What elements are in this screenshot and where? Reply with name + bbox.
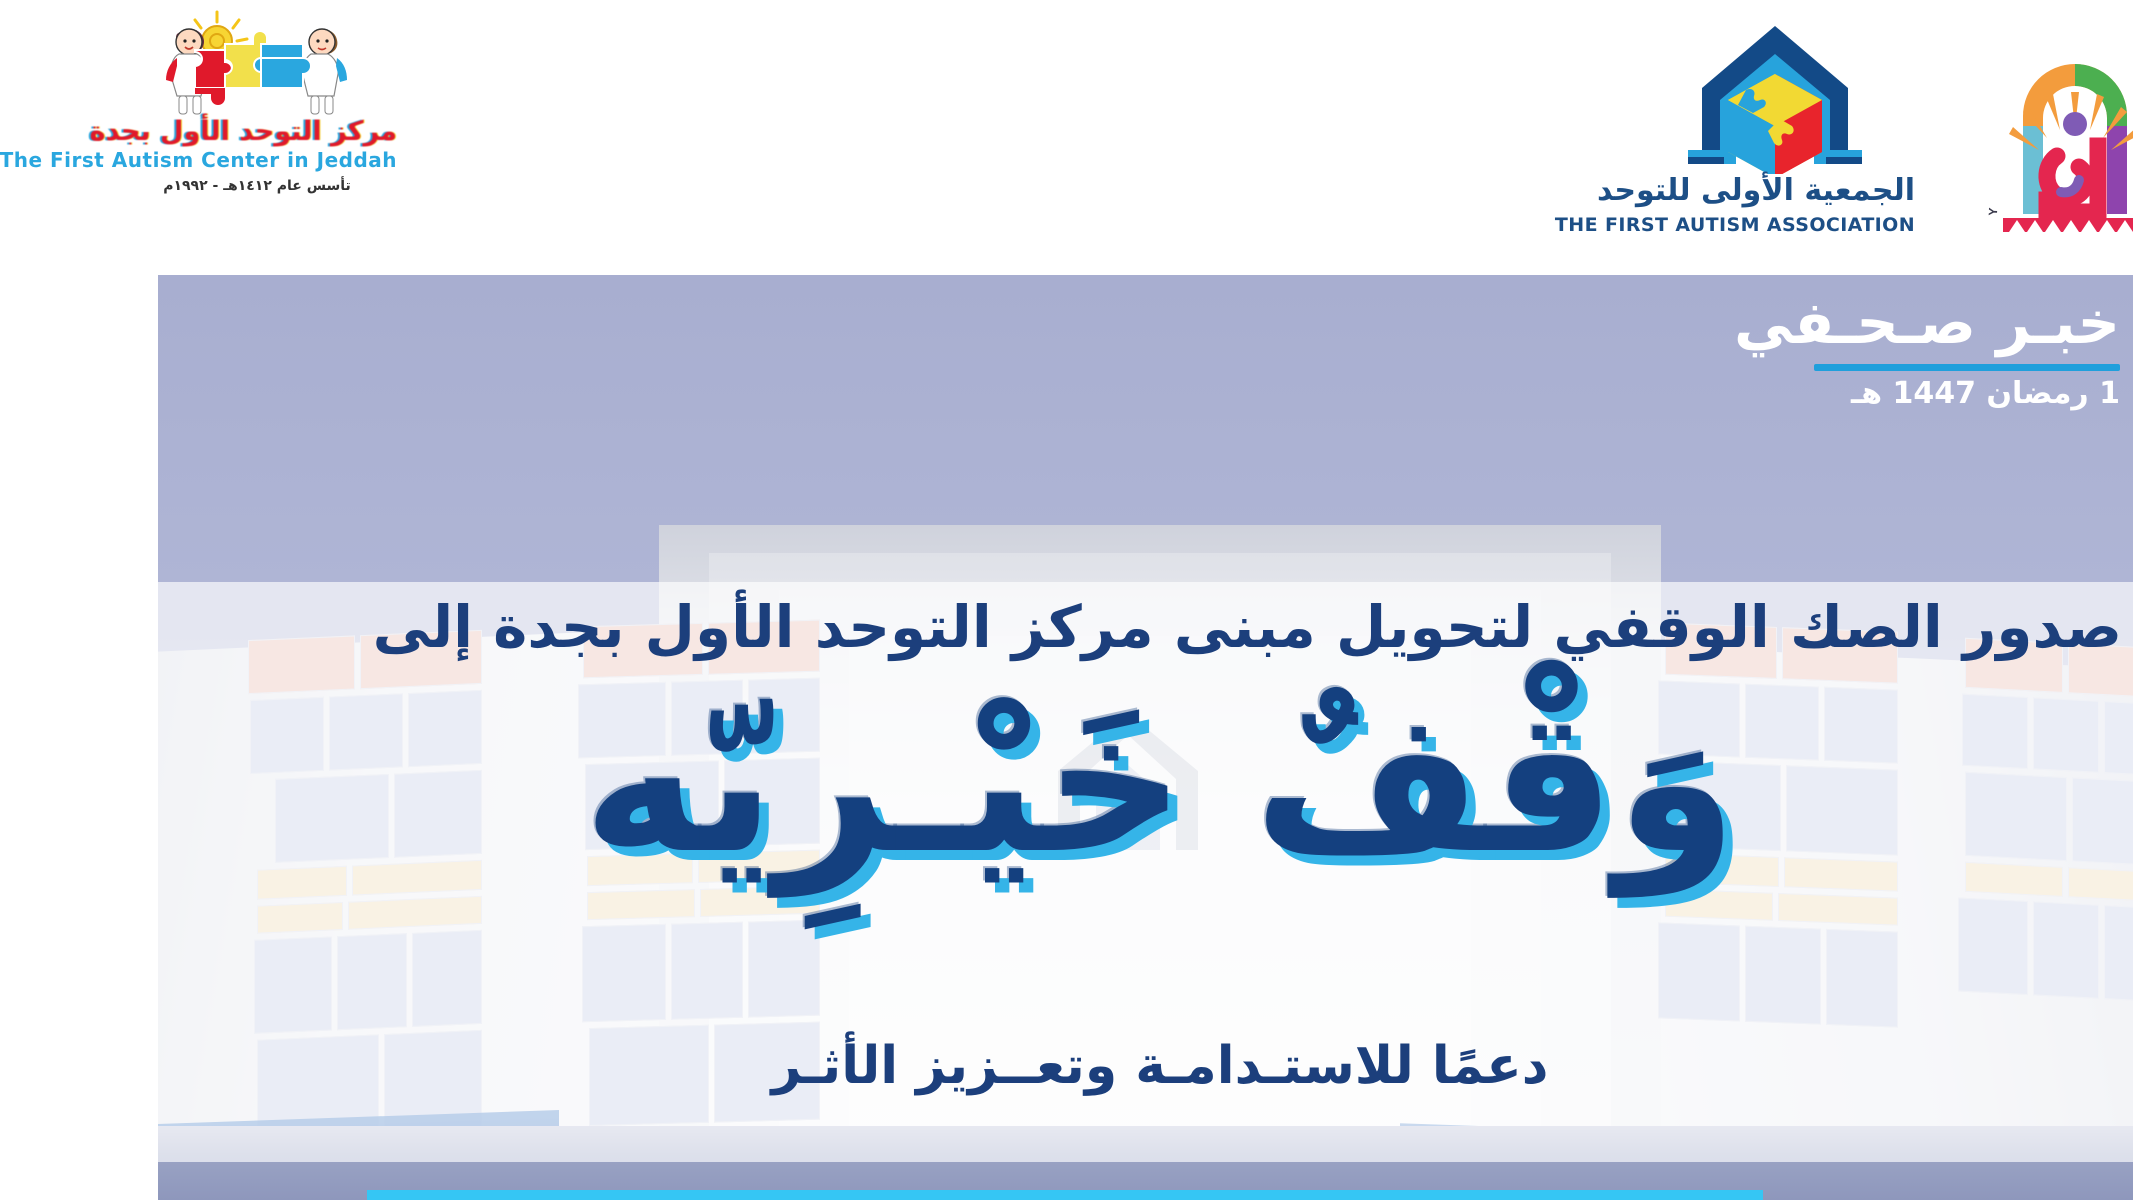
arch-mihrab-icon: AL FAISALYA WOMEN WELFARE SOCIETY الجمعي… xyxy=(1884,6,2109,246)
puzzle-children-icon xyxy=(40,6,320,124)
faa-english-name: THE FIRST AUTISM ASSOCIATION xyxy=(1553,214,1838,236)
logo-first-autism-association: الجمعية الأولى للتوحد THE FIRST AUTISM A… xyxy=(1553,14,1838,244)
wordmark-waqf-khayri: وَقْفٌ خَيْـرِيّه xyxy=(81,685,2085,881)
press-release-kicker: خبـر صـحـفي 1 رمضان 1447 هـ xyxy=(1657,293,2043,410)
tfac-english-name: The First Autism Center in Jeddah xyxy=(40,148,320,172)
tfac-arabic-name: مركز التوحد الأول بجدة xyxy=(40,118,320,145)
press-release-banner: خبـر صـحـفي 1 رمضان 1447 هـ صدور الصك ال… xyxy=(81,275,2085,1200)
svg-text:AL FAISALYA WOMEN WELFARE SOCI: AL FAISALYA WOMEN WELFARE SOCIETY xyxy=(1884,6,1923,216)
tagline: دعمًا للاستـدامـة وتعــزيز الأثـر xyxy=(81,1035,2085,1097)
kicker-underline-rule xyxy=(1737,364,2043,371)
logo-al-faisaliya-women-welfare-society: AL FAISALYA WOMEN WELFARE SOCIETY الجمعي… xyxy=(1884,6,2109,246)
faa-arabic-name: الجمعية الأولى للتوحد xyxy=(1553,174,1838,207)
tfac-founded-text: تأسس عام ١٤١٢هـ - ١٩٩٢م xyxy=(40,178,320,194)
footer-accent-bar xyxy=(290,1190,1686,1200)
page-header: مركز التوحد الأول بجدة The First Autism … xyxy=(0,0,2133,272)
logo-first-autism-center-jeddah: مركز التوحد الأول بجدة The First Autism … xyxy=(40,6,320,236)
fwws-english-name: AL FAISALYA WOMEN WELFARE SOCIETY xyxy=(1884,6,1923,216)
arch-puzzle-cube-icon xyxy=(1603,14,1793,174)
kicker-title: خبـر صـحـفي xyxy=(1657,293,2043,352)
kicker-date: 1 رمضان 1447 هـ xyxy=(1657,377,2043,410)
headline: صدور الصك الوقفي لتحويل مبنى مركز التوحد… xyxy=(145,593,2045,661)
